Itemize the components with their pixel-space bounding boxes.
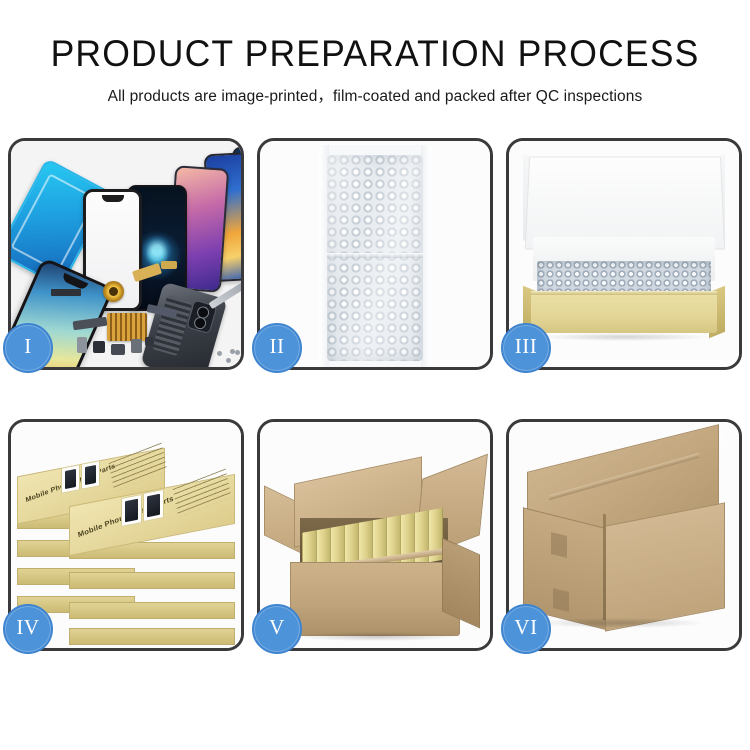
step-panel-1: I [8, 138, 244, 370]
process-steps-grid: I II [8, 138, 742, 683]
step-panel-6: VI [506, 419, 742, 651]
box-screen-graphic [121, 494, 142, 527]
step-panel-4: Mobile Phone Spare Parts Mobile Phone Sp… [8, 419, 244, 651]
screws-group [217, 349, 241, 365]
box-stack-item [69, 622, 233, 644]
carton-front-panel [290, 562, 460, 636]
speaker-coil-part [103, 281, 124, 302]
carton-tape-patch [553, 588, 569, 612]
header: PRODUCT PREPARATION PROCESS All products… [0, 0, 750, 107]
product-preparation-infographic: PRODUCT PREPARATION PROCESS All products… [0, 0, 750, 750]
step-badge-6: VI [501, 604, 551, 654]
step-panel-5: V [257, 419, 493, 651]
step-badge-5: V [252, 604, 302, 654]
step-panel-2: II [257, 138, 493, 370]
step-badge-3: III [501, 323, 551, 373]
page-title: PRODUCT PREPARATION PROCESS [15, 0, 735, 76]
chip-grid-part [107, 313, 147, 341]
stacked-boxes: Mobile Phone Spare Parts Mobile Phone Sp… [17, 436, 239, 640]
step-badge-1: I [3, 323, 53, 373]
page-subtitle: All products are image-printed，film-coat… [0, 76, 750, 107]
box-stack-item [69, 562, 233, 590]
box-stack-item [69, 592, 233, 620]
small-part [77, 337, 87, 353]
step-badge-4: IV [3, 604, 53, 654]
bubble-wrap-pouch [319, 145, 431, 367]
box-screen-graphic [143, 489, 164, 522]
step-badge-2: II [252, 323, 302, 373]
small-part [161, 261, 177, 269]
small-part [131, 339, 142, 353]
kraft-box-front [531, 293, 717, 333]
small-part [93, 341, 105, 353]
small-part [145, 337, 154, 346]
box-lid [525, 156, 725, 249]
small-part [111, 344, 125, 355]
carton-tape-patch [551, 532, 567, 558]
carton-right-panel [605, 502, 725, 631]
box-screen-graphic [81, 460, 100, 490]
step-panel-3: III [506, 138, 742, 370]
flex-cable-part [51, 289, 81, 296]
